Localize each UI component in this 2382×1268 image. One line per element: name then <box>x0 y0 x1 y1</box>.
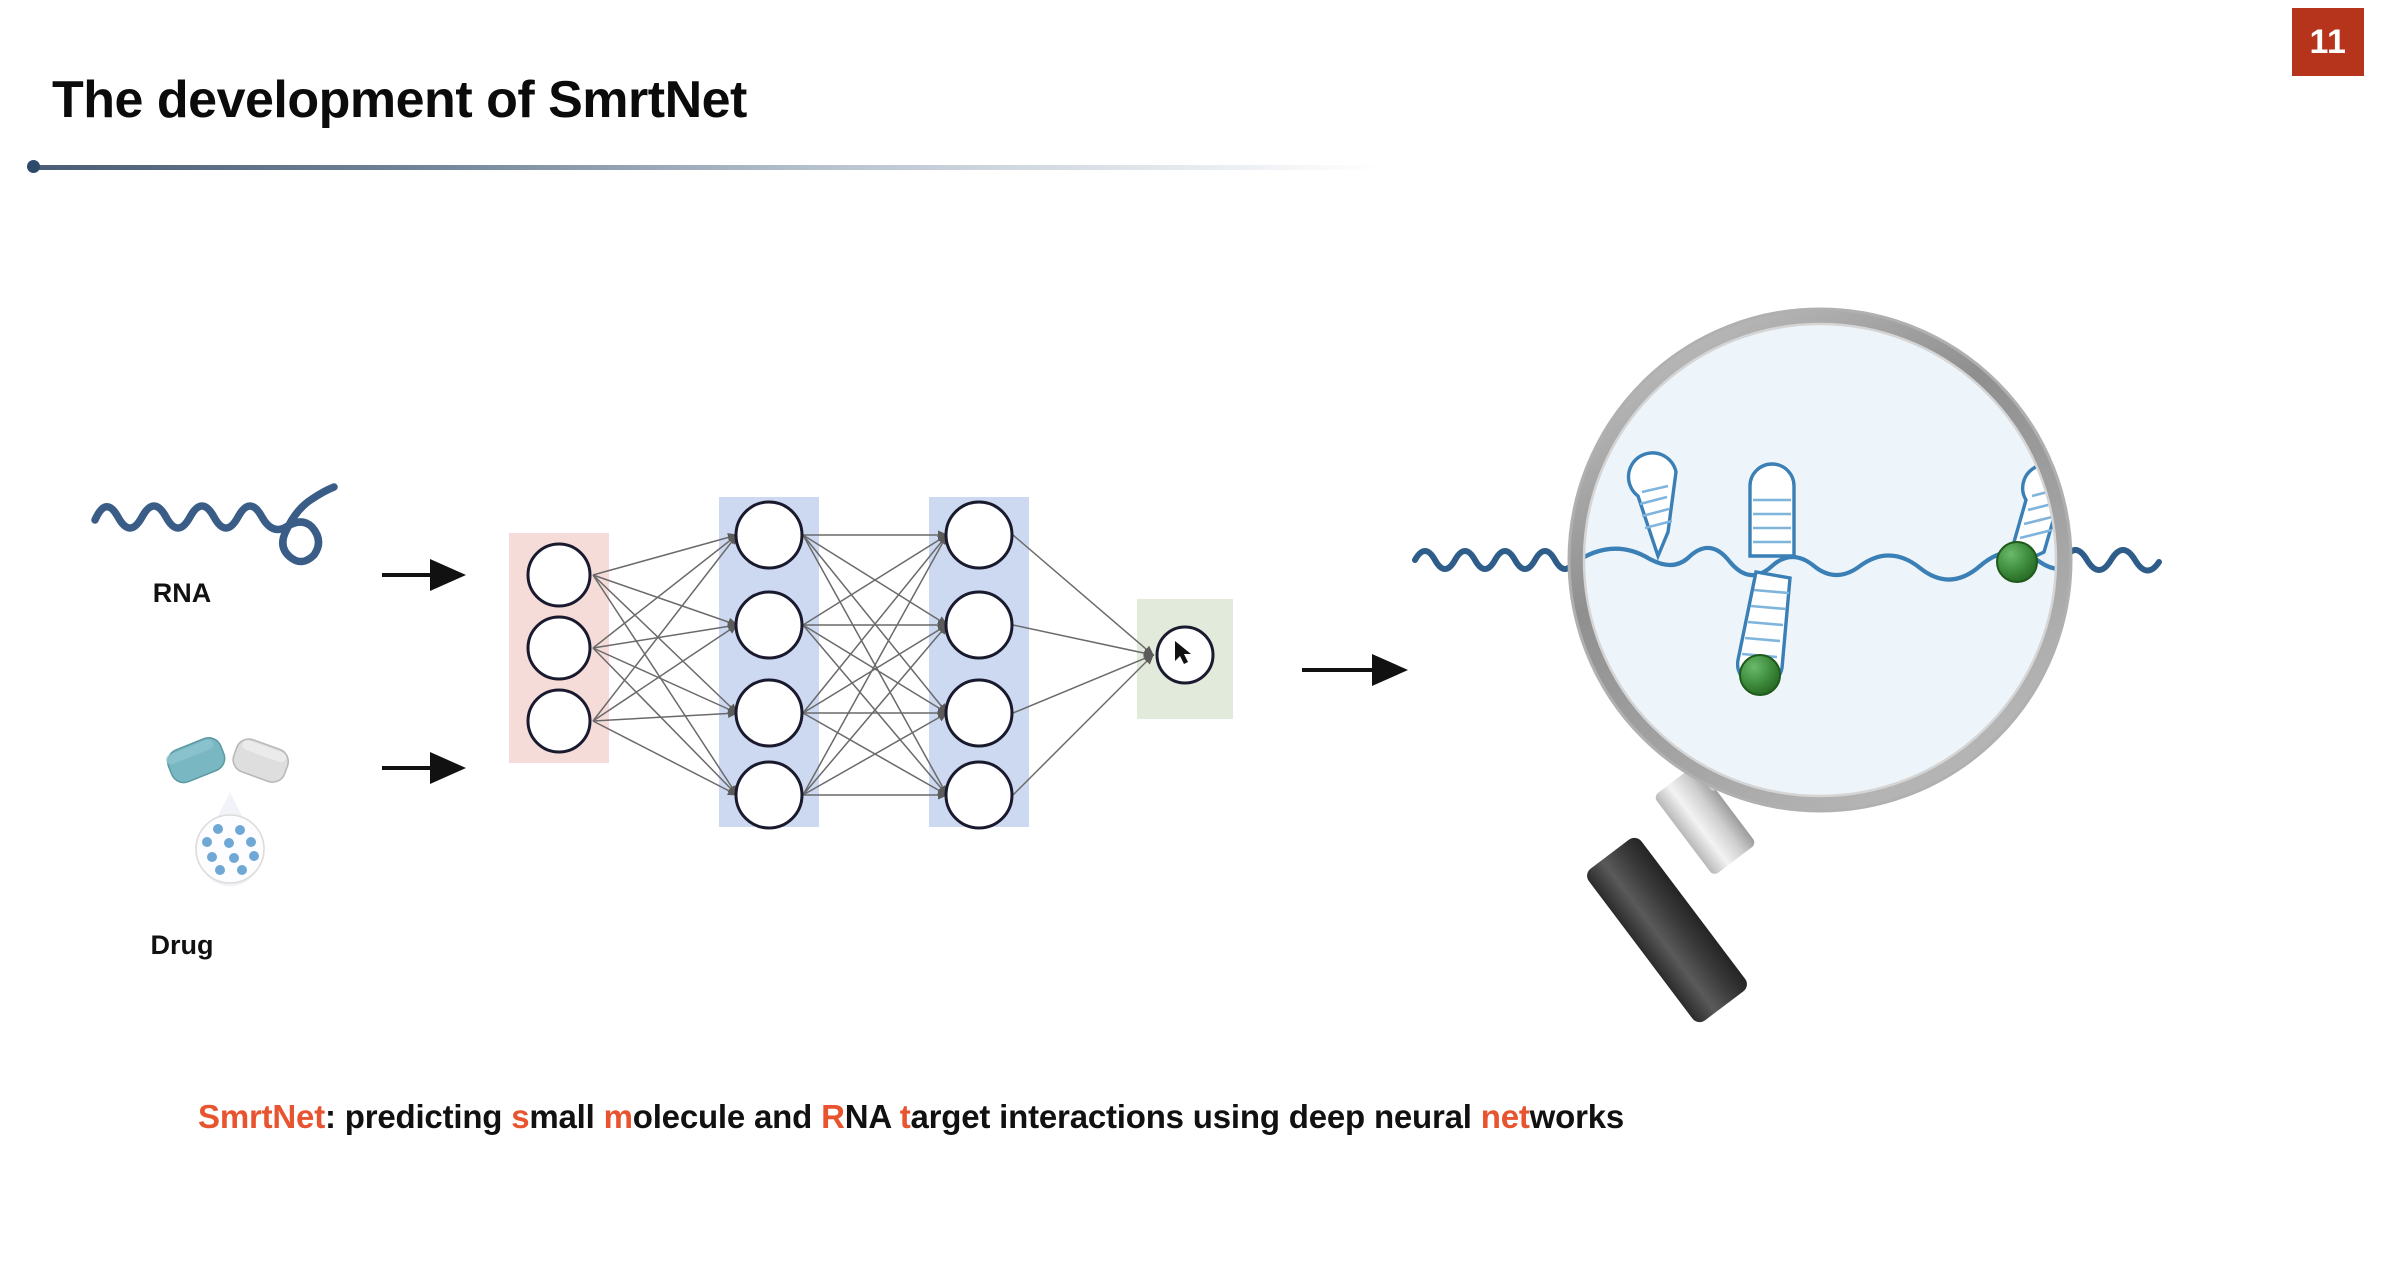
caption-segment-3: Net <box>272 1098 325 1135</box>
hidden-node <box>946 502 1012 568</box>
drug-capsule-icon <box>150 718 310 898</box>
caption-segment-9: R <box>821 1098 845 1135</box>
caption-segment-0: S <box>198 1098 220 1135</box>
hidden-node <box>736 680 802 746</box>
caption-segment-1: m <box>220 1098 249 1135</box>
rna-label: RNA <box>122 578 242 609</box>
title-underline-dot <box>27 160 40 173</box>
hidden-node <box>946 762 1012 828</box>
stem-loop <box>1750 464 1794 556</box>
hidden-node <box>736 502 802 568</box>
slide-canvas: 11 The development of SmrtNet RNA Drug <box>0 0 2382 1268</box>
deep-neural-network <box>505 495 1345 835</box>
arrow-network-to-magnifier <box>1300 650 1430 690</box>
hidden-node <box>736 592 802 658</box>
caption-segment-2: rt <box>249 1098 272 1135</box>
hidden-node <box>946 680 1012 746</box>
magnifying-glass <box>1420 290 2160 1030</box>
hidden-node <box>736 762 802 828</box>
rna-strand-right-outside <box>2065 550 2159 571</box>
slide-caption: SmrtNet: predicting small molecule and R… <box>198 1098 1624 1136</box>
caption-segment-12: arget interactions using deep neural <box>911 1098 1481 1135</box>
caption-segment-11: t <box>900 1098 911 1135</box>
caption-segment-4: : predicting <box>325 1098 511 1135</box>
input-node <box>528 617 590 679</box>
hidden-node <box>946 592 1012 658</box>
page-title: The development of SmrtNet <box>52 70 747 130</box>
input-node <box>528 690 590 752</box>
drug-label: Drug <box>122 930 242 961</box>
caption-segment-8: olecule and <box>633 1098 821 1135</box>
page-number-badge: 11 <box>2292 8 2364 76</box>
caption-segment-14: works <box>1530 1098 1624 1135</box>
title-underline-rule <box>30 165 1380 170</box>
input-node <box>528 544 590 606</box>
ligand-icon <box>1997 542 2037 582</box>
caption-segment-10: NA <box>845 1098 900 1135</box>
output-node <box>1157 627 1213 683</box>
rna-strand-icon <box>90 465 380 575</box>
ligand-icon <box>1740 655 1780 695</box>
caption-segment-13: net <box>1481 1098 1530 1135</box>
caption-segment-7: m <box>604 1098 633 1135</box>
caption-segment-6: mall <box>529 1098 603 1135</box>
caption-segment-5: s <box>511 1098 529 1135</box>
rna-strand-left-outside <box>1415 551 1575 569</box>
